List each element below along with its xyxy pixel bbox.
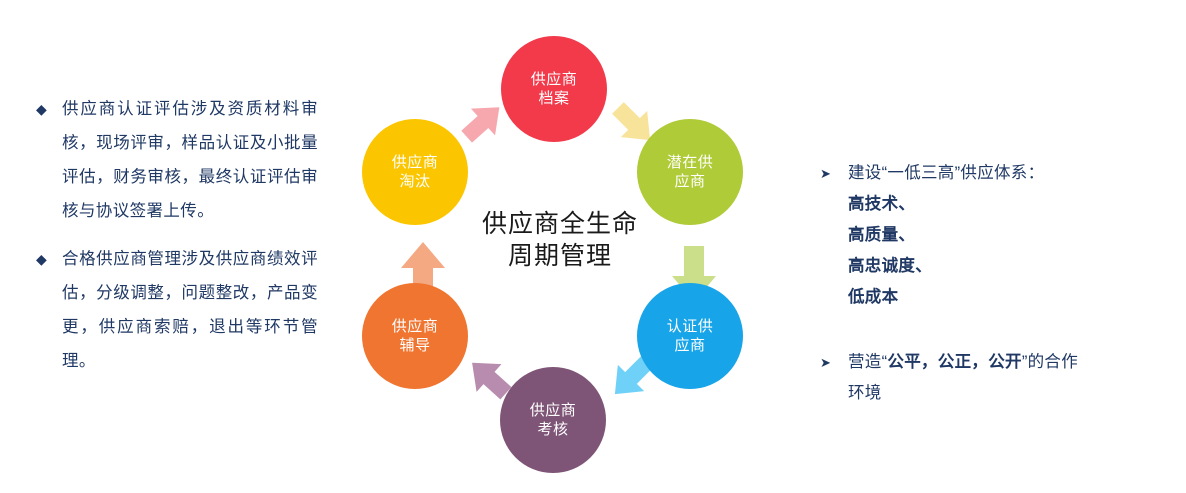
diamond-bullet-icon: ◆ (36, 92, 62, 126)
cycle-node-archive-line1: 供应商 (531, 70, 578, 89)
diamond-bullet-icon: ◆ (36, 242, 62, 276)
cycle-node-certified[interactable]: 认证供 应商 (637, 283, 743, 389)
left-description-panel: ◆ 供应商认证评估涉及资质材料审核，现场评审，样品认证及小批量评估，财务审核，最… (36, 92, 318, 384)
right-item-2-emphasis: 公平，公正，公开 (887, 353, 1021, 371)
cycle-node-elimination-line1: 供应商 (392, 153, 439, 172)
right-item-2-prefix: 营造“ (848, 353, 887, 371)
cycle-node-potential-line2: 应商 (667, 172, 714, 191)
cycle-node-archive-line2: 档案 (531, 89, 578, 108)
right-item-2-suffix: ”的合作 (1022, 353, 1078, 371)
triangle-bullet-icon: ➤ (820, 347, 848, 378)
cycle-node-certified-line2: 应商 (667, 336, 714, 355)
left-bullet-text-1: 供应商认证评估涉及资质材料审核，现场评审，样品认证及小批量评估，财务审核，最终认… (62, 92, 318, 228)
cycle-node-assessment-line1: 供应商 (530, 401, 577, 420)
cycle-node-assessment-line2: 考核 (530, 420, 577, 439)
right-item-2-line-2: 环境 (848, 378, 1160, 409)
cycle-node-elimination-line2: 淘汰 (392, 172, 439, 191)
list-item: ◆ 合格供应商管理涉及供应商绩效评估，分级调整，问题整改，产品变更，供应商索赔，… (36, 242, 318, 378)
right-item-1-sub-2: 高质量、 (848, 220, 1160, 251)
cycle-node-coaching-line1: 供应商 (392, 317, 439, 336)
supplier-lifecycle-cycle-diagram: 供应商 档案 潜在供 应商 认证供 应商 供应商 考核 供应商 辅导 供应商 淘… (340, 20, 780, 480)
right-item-1-heading: 建设“一低三高”供应体系： (848, 158, 1160, 189)
triangle-bullet-icon: ➤ (820, 158, 848, 189)
list-item: ➤ 营造“公平，公正，公开”的合作 环境 (820, 347, 1160, 409)
center-title-line-1: 供应商全生命 (450, 208, 670, 240)
cycle-node-archive[interactable]: 供应商 档案 (501, 36, 607, 142)
cycle-node-potential-line1: 潜在供 (667, 153, 714, 172)
cycle-node-assessment[interactable]: 供应商 考核 (500, 367, 606, 473)
right-item-1-sub-1: 高技术、 (848, 189, 1160, 220)
cycle-node-certified-line1: 认证供 (667, 317, 714, 336)
diagram-center-title: 供应商全生命 周期管理 (450, 208, 670, 272)
center-title-line-2: 周期管理 (450, 240, 670, 272)
right-item-2: 营造“公平，公正，公开”的合作 环境 (848, 347, 1160, 409)
right-item-1-sub-4: 低成本 (848, 282, 1160, 313)
list-item: ◆ 供应商认证评估涉及资质材料审核，现场评审，样品认证及小批量评估，财务审核，最… (36, 92, 318, 228)
cycle-node-coaching-line2: 辅导 (392, 336, 439, 355)
cycle-node-coaching[interactable]: 供应商 辅导 (362, 283, 468, 389)
right-item-1: 建设“一低三高”供应体系： 高技术、 高质量、 高忠诚度、 低成本 (848, 158, 1160, 313)
right-objectives-panel: ➤ 建设“一低三高”供应体系： 高技术、 高质量、 高忠诚度、 低成本 ➤ 营造… (820, 158, 1160, 409)
left-bullet-text-2: 合格供应商管理涉及供应商绩效评估，分级调整，问题整改，产品变更，供应商索赔，退出… (62, 242, 318, 378)
right-item-1-sub-3: 高忠诚度、 (848, 251, 1160, 282)
list-item: ➤ 建设“一低三高”供应体系： 高技术、 高质量、 高忠诚度、 低成本 (820, 158, 1160, 313)
right-item-2-line-1: 营造“公平，公正，公开”的合作 (848, 347, 1160, 378)
